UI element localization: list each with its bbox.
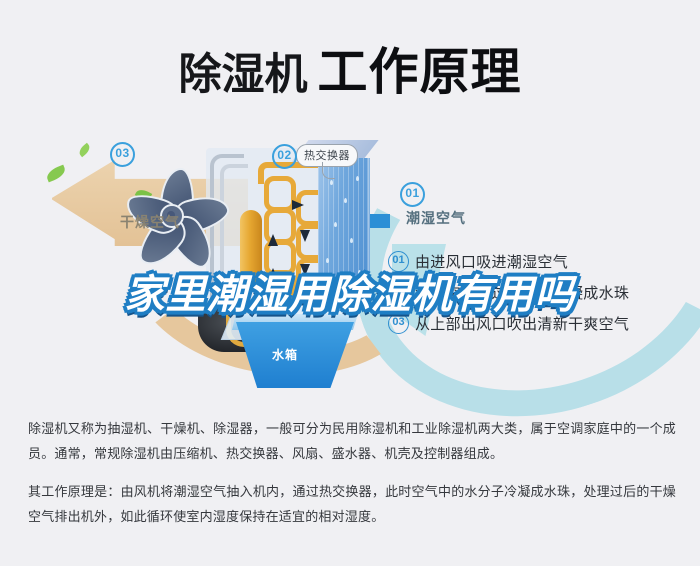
infographic-page: 除湿机工作原理 (0, 0, 700, 566)
body-paragraph-2: 其工作原理是：由风机将潮湿空气抽入机内，通过热交换器，此时空气中的水分子冷凝成水… (28, 479, 676, 529)
flow-arrow-up-icon (268, 234, 278, 246)
leaf-icon (77, 143, 92, 157)
overlay-headline: 家里潮湿用除湿机有用吗 (0, 262, 700, 320)
diagram-marker-01-ring: 01 (400, 182, 425, 207)
moist-air-label: 潮湿空气 (406, 208, 466, 228)
diagram-marker-02: 02 (272, 144, 297, 169)
page-title-part1: 除湿机 (179, 51, 308, 99)
leaf-icon (45, 165, 68, 183)
dry-air-label: 干燥空气 (120, 212, 180, 232)
flow-arrow-down-icon (300, 230, 310, 242)
water-droplet-icon (334, 222, 337, 227)
body-paragraph-1: 除湿机又称为抽湿机、干燥机、除湿器，一般可分为民用除湿机和工业除湿机两大类，属于… (28, 416, 676, 466)
page-title: 除湿机工作原理 (0, 32, 700, 104)
diagram-marker-03: 03 (110, 142, 135, 167)
water-droplet-icon (330, 180, 333, 185)
diagram-marker-01: 01 (400, 182, 425, 207)
page-title-part2: 工作原理 (318, 44, 522, 100)
water-droplet-icon (344, 198, 347, 203)
water-droplet-icon (350, 238, 353, 243)
water-tank-label: 水箱 (272, 346, 298, 363)
body-copy: 除湿机又称为抽湿机、干燥机、除湿器，一般可分为民用除湿机和工业除湿机两大类，属于… (28, 416, 676, 529)
diagram-marker-03-ring: 03 (110, 142, 135, 167)
diagram-marker-02-ring: 02 (272, 144, 297, 169)
heat-exchanger-callout-tail (322, 162, 335, 179)
flow-arrow-right-icon (292, 200, 304, 210)
water-droplet-icon (356, 176, 359, 181)
